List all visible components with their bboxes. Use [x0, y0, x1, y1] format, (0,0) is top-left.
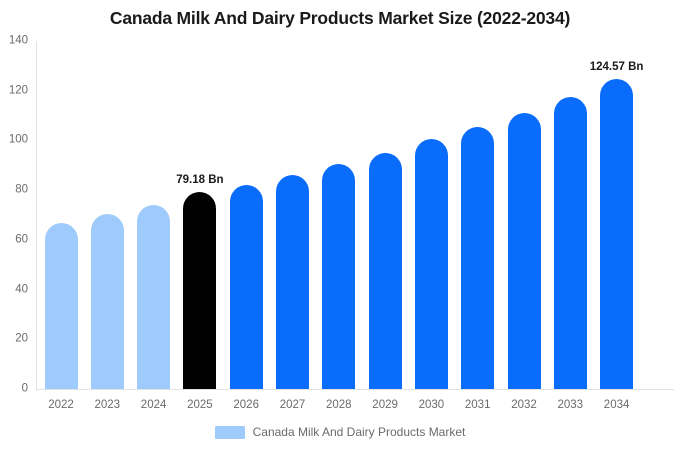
bar[interactable] [554, 97, 587, 389]
x-axis-tick-label: 2031 [465, 399, 491, 411]
bar[interactable] [461, 127, 494, 389]
legend-item-label: Canada Milk And Dairy Products Market [253, 425, 466, 439]
bar[interactable] [322, 164, 355, 389]
x-axis-tick-label: 2027 [280, 399, 306, 411]
legend-swatch [215, 426, 245, 439]
x-axis-tick-label: 2026 [233, 399, 259, 411]
bar[interactable] [230, 185, 263, 389]
bar-value-label: 79.18 Bn [176, 174, 223, 186]
x-axis-tick-label: 2022 [48, 399, 74, 411]
x-axis-tick-label: 2033 [558, 399, 584, 411]
bar[interactable] [276, 175, 309, 389]
x-axis-tick-label: 2028 [326, 399, 352, 411]
bar[interactable] [91, 214, 124, 389]
bar[interactable] [183, 192, 216, 389]
bar[interactable] [369, 153, 402, 389]
bar-value-label: 124.57 Bn [590, 61, 644, 73]
x-axis-tick-label: 2023 [95, 399, 121, 411]
x-axis-tick-label: 2029 [372, 399, 398, 411]
x-axis-tick-label: 2024 [141, 399, 167, 411]
bar-series: 202220232024202579.18 Bn2026202720282029… [0, 0, 680, 450]
bar[interactable] [508, 113, 541, 389]
bar[interactable] [415, 139, 448, 389]
bar[interactable] [45, 223, 78, 389]
bar[interactable] [600, 79, 633, 389]
chart-legend: Canada Milk And Dairy Products Market [0, 425, 680, 439]
x-axis-tick-label: 2034 [604, 399, 630, 411]
chart-container: Canada Milk And Dairy Products Market Si… [0, 0, 680, 450]
x-axis-tick-label: 2032 [511, 399, 537, 411]
bar[interactable] [137, 205, 170, 389]
x-axis-tick-label: 2025 [187, 399, 213, 411]
x-axis-tick-label: 2030 [419, 399, 445, 411]
